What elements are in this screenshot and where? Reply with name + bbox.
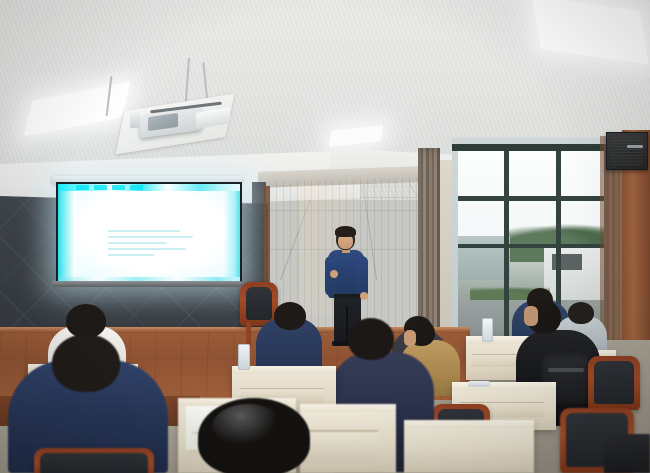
window-mullion [458,196,608,201]
window-head-frame [452,144,610,151]
slide-tab [94,185,107,190]
attendee-man-navy-center-head [274,302,306,330]
slide-text-line [108,248,186,250]
chair-seat-pad [594,361,634,404]
screen-right-color-fringe [224,184,240,284]
desk-drawer [308,430,378,462]
smartphone [468,381,490,387]
conference-chair [34,448,154,473]
slide-text-line [108,242,167,244]
attendee-grey-shirt-window-head [568,302,594,324]
presenter-belt [334,294,360,298]
building-outside [458,236,510,280]
conference-room-photo [0,0,650,473]
slide-text-line [108,236,193,238]
slide-window-tabs [76,185,143,190]
attendee-man-suit-right-head [348,318,394,360]
window-mullion [504,150,509,340]
slide-body-text [108,230,200,260]
presenter-hand-right [360,292,368,300]
slide-tab [112,185,125,190]
presenter-hair [335,226,356,237]
attendee-man-navy-left-head [52,334,120,392]
wall-speaker [606,132,648,170]
desk-top [300,404,396,412]
window-mullion [458,244,608,248]
speaker-grille [611,137,643,165]
attendee-black-hoodie-ear-face [524,306,538,326]
projector-vent [130,111,140,128]
desk-top [404,420,534,428]
slide-text-line [108,230,180,232]
chair-seat-pad [246,287,272,320]
conference-chair [588,356,640,410]
presenter-hand-left [330,270,338,278]
water-bottle [482,318,493,342]
attendee-camel-sweater-face [404,330,416,346]
speaker-badge [627,145,643,148]
projection-screen-weight-bar [52,281,242,287]
slide-tab [130,185,143,190]
water-bottle [238,344,250,370]
attendee-woman-white-top-head [66,304,106,338]
training-desk [404,420,534,473]
slide-tab [76,185,89,190]
projection-screen [56,182,242,286]
chair-seat-pad [40,453,148,473]
screen-left-color-fringe [58,184,80,284]
slide-text-line [108,254,154,256]
hair-highlight [212,404,284,450]
attendee-partial-right-edge [604,434,650,473]
backpack-zipper [548,368,584,372]
